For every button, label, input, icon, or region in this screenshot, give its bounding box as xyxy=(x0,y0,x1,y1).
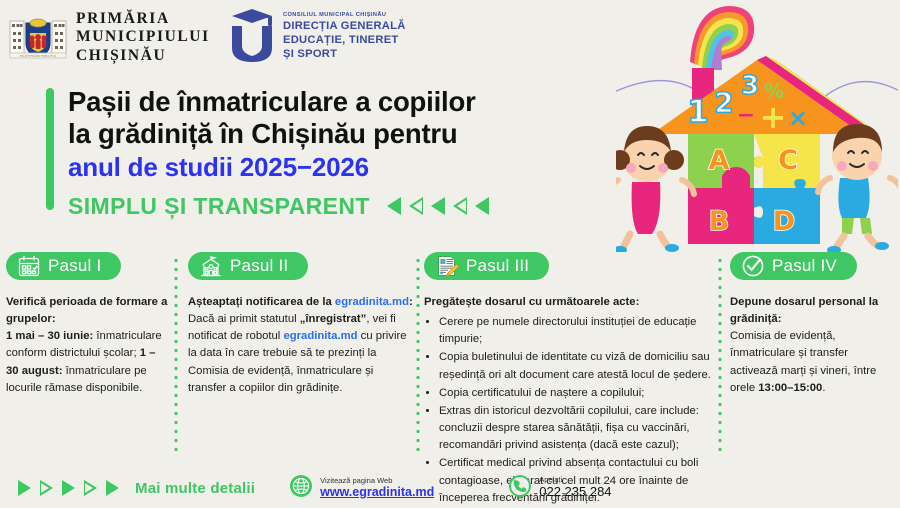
step-heading-4: Depune dosarul personal la grădiniță: xyxy=(730,296,878,325)
primaria-line-1: PRIMĂRIA xyxy=(76,10,210,28)
footer-web-url[interactable]: www.egradinita.md xyxy=(320,485,434,501)
step-pill-4[interactable]: Pasul IV xyxy=(730,252,857,280)
svg-text:3: 3 xyxy=(741,71,759,101)
step-pill-2[interactable]: Pasul II xyxy=(188,252,308,280)
title-accent-bar xyxy=(46,88,54,210)
step-column-4: Pasul IV Depune dosarul personal la grăd… xyxy=(730,252,896,397)
svg-text:2: 2 xyxy=(714,86,733,119)
svg-text:FRUCTIFICĂM TRECUTUL: FRUCTIFICĂM TRECUTUL xyxy=(20,53,57,58)
primaria-line-2: MUNICIPIULUI xyxy=(76,28,210,46)
dgets-wordmark: CONSILIUL MUNICIPAL CHIȘINĂU DIRECȚIA GE… xyxy=(283,8,406,62)
footer-arrows xyxy=(18,480,119,496)
kindergarten-house-illustration: 1 2 3 % + × − A C B D xyxy=(616,0,898,252)
step-2-quoted: „înregistrat” xyxy=(300,313,367,325)
arrow-right-outline-icon xyxy=(84,480,97,496)
svg-text:A: A xyxy=(709,145,730,176)
svg-text:1: 1 xyxy=(687,94,709,130)
svg-text:×: × xyxy=(788,104,808,132)
dgets-shield-graduation-cap-icon xyxy=(228,8,276,62)
arrow-left-outline-icon xyxy=(409,197,423,215)
list-item: Cerere pe numele directorului instituție… xyxy=(439,314,712,348)
footer-phone-number[interactable]: 022 235 284 xyxy=(539,484,611,500)
svg-text:D: D xyxy=(773,206,795,237)
title-block: Pașii de înmatriculare a copiilor la gră… xyxy=(46,86,606,220)
footer-more-label: Mai multe detalii xyxy=(135,480,255,497)
step-2-inline-link[interactable]: egradinita.md xyxy=(283,330,357,342)
calendar-check-icon xyxy=(17,254,41,278)
globe-icon xyxy=(289,474,313,503)
column-divider xyxy=(174,256,178,456)
dgets-line-3: ȘI SPORT xyxy=(283,47,406,61)
list-item: Copia buletinului de identitate cu viză … xyxy=(439,349,712,383)
page-tagline: SIMPLU ȘI TRANSPARENT xyxy=(68,193,370,220)
infographic-page: FRUCTIFICĂM TRECUTUL PRIMĂRIA MUNICIPIUL… xyxy=(0,0,900,506)
dgets-line-1: DIRECȚIA GENERALĂ xyxy=(283,19,406,33)
girl-figure xyxy=(616,126,694,252)
dgets-logo: CONSILIUL MUNICIPAL CHIȘINĂU DIRECȚIA GE… xyxy=(228,8,406,62)
page-title-line-1: Pașii de înmatriculare a copiilor xyxy=(68,86,606,118)
list-item: Copia certificatului de naștere a copilu… xyxy=(439,385,712,402)
rainbow-smoke xyxy=(690,6,754,70)
school-building-icon xyxy=(199,254,223,278)
arrow-right-filled-icon xyxy=(62,480,75,496)
svg-text:C: C xyxy=(778,145,798,176)
footer-web-caption: Vizitează pagina Web xyxy=(320,476,434,485)
step-column-1: Pasul I Verifică perioada de formare a g… xyxy=(6,252,171,397)
step-heading-2: Așteaptați notificarea de la xyxy=(188,296,332,308)
svg-text:B: B xyxy=(709,206,730,237)
step-pill-1[interactable]: Pasul I xyxy=(6,252,121,280)
step-heading-3: Pregătește dosarul cu următoarele acte: xyxy=(424,296,639,308)
arrow-right-filled-icon xyxy=(18,480,31,496)
arrow-left-filled-icon xyxy=(475,197,489,215)
phone-circle-icon xyxy=(508,474,532,503)
step-label-3: Pasul III xyxy=(466,256,529,276)
footer: Mai multe detalii Vizitează pagina Web w… xyxy=(0,470,900,506)
step-column-2: Pasul II Așteaptați notificarea de la eg… xyxy=(188,252,414,397)
step-label-4: Pasul IV xyxy=(772,256,837,276)
step-body-1: Verifică perioada de formare a grupelor:… xyxy=(6,294,171,397)
primaria-line-3: CHIȘINĂU xyxy=(76,47,210,65)
footer-web-item[interactable]: Vizitează pagina Web www.egradinita.md xyxy=(289,474,434,503)
arrow-right-filled-icon xyxy=(106,480,119,496)
boy-figure xyxy=(818,124,898,252)
column-divider xyxy=(416,256,420,456)
svg-text:−: − xyxy=(737,103,755,128)
arrow-left-filled-icon xyxy=(387,197,401,215)
dgets-line-2: EDUCAȚIE, TINERET xyxy=(283,33,406,47)
step-2-paragraph-1: Dacă ai primit statutul xyxy=(188,313,300,325)
step-body-2: Așteaptați notificarea de la egradinita.… xyxy=(188,294,414,397)
primaria-logo: FRUCTIFICĂM TRECUTUL PRIMĂRIA MUNICIPIUL… xyxy=(8,10,210,65)
step-label-2: Pasul II xyxy=(230,256,288,276)
arrow-left-outline-icon xyxy=(453,197,467,215)
page-title-line-2: la grădiniță în Chișinău pentru xyxy=(68,118,606,150)
step-body-4: Depune dosarul personal la grădiniță: Co… xyxy=(730,294,896,397)
puzzle-letters: A C B D xyxy=(688,134,820,244)
steps-section: Pasul I Verifică perioada de formare a g… xyxy=(0,252,900,470)
page-title-year: anul de studii 2025−2026 xyxy=(68,152,606,183)
tagline-arrows xyxy=(387,197,489,215)
chisinau-coat-of-arms-icon: FRUCTIFICĂM TRECUTUL xyxy=(8,11,68,63)
primaria-wordmark: PRIMĂRIA MUNICIPIULUI CHIȘINĂU xyxy=(76,10,210,65)
footer-phone-caption: Apelați xyxy=(539,475,611,484)
document-pencil-icon xyxy=(435,254,459,278)
list-item: Extras din istoricul dezvoltării copilul… xyxy=(439,403,712,454)
step-1-period-1-label: 1 mai – 30 iunie: xyxy=(6,330,93,342)
column-divider xyxy=(718,256,722,456)
svg-text:+: + xyxy=(760,98,787,136)
step-2-heading-link[interactable]: egradinita.md xyxy=(335,296,409,308)
step-4-hours: 13:00–15:00 xyxy=(758,382,822,394)
arrow-left-filled-icon xyxy=(431,197,445,215)
dgets-council-line: CONSILIUL MUNICIPAL CHIȘINĂU xyxy=(283,12,406,18)
arrow-right-outline-icon xyxy=(40,480,53,496)
step-label-1: Pasul I xyxy=(48,256,101,276)
footer-phone-item[interactable]: Apelați 022 235 284 xyxy=(508,474,611,503)
step-heading-1: Verifică perioada de formare a grupelor: xyxy=(6,296,167,325)
check-circle-icon xyxy=(741,254,765,278)
step-4-paragraph-2: . xyxy=(822,382,825,394)
step-pill-3[interactable]: Pasul III xyxy=(424,252,549,280)
